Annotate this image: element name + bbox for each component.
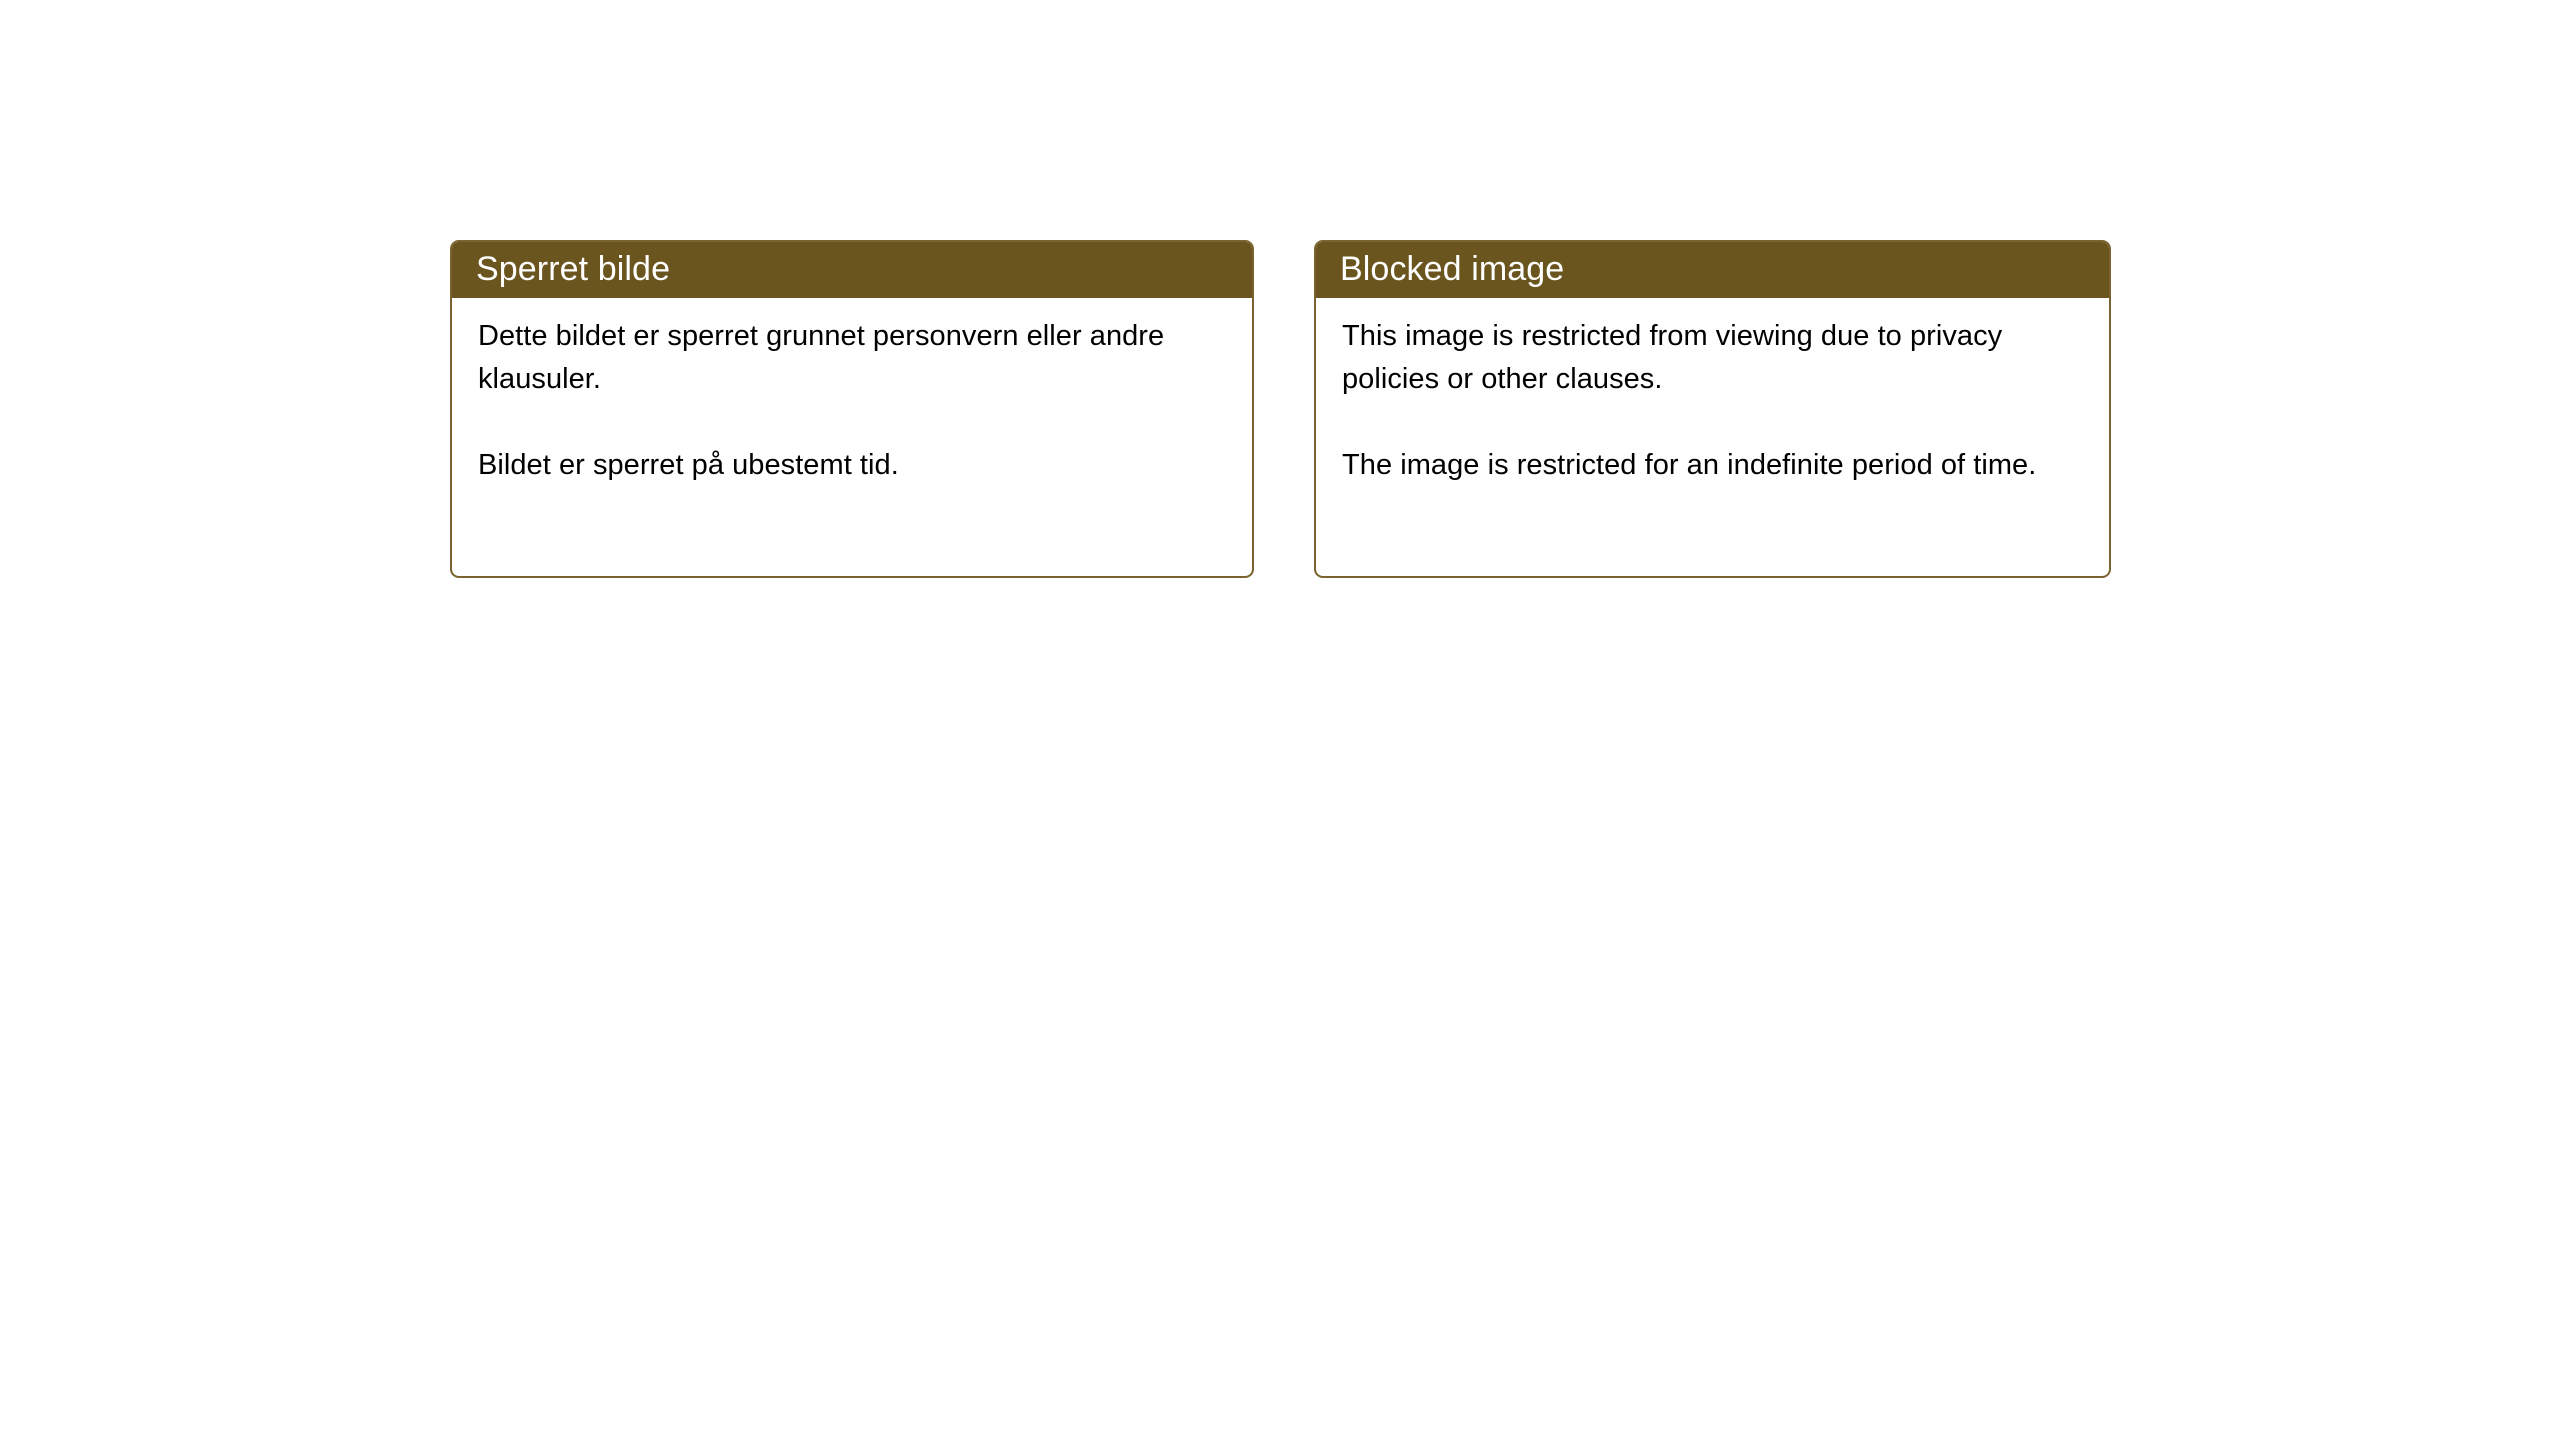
notice-paragraph-reason-en: This image is restricted from viewing du… bbox=[1342, 315, 2085, 401]
notice-header-no: Sperret bilde bbox=[450, 240, 1254, 298]
notice-paragraph-duration-en: The image is restricted for an indefinit… bbox=[1342, 444, 2085, 487]
page-canvas: Sperret bilde Dette bildet er sperret gr… bbox=[0, 0, 2560, 1440]
blocked-image-notice-en: Blocked image This image is restricted f… bbox=[1314, 240, 2111, 578]
blocked-image-notice-no: Sperret bilde Dette bildet er sperret gr… bbox=[450, 240, 1254, 578]
notice-body-en: This image is restricted from viewing du… bbox=[1316, 298, 2109, 487]
notice-paragraph-reason-no: Dette bildet er sperret grunnet personve… bbox=[478, 315, 1228, 401]
notice-title-en: Blocked image bbox=[1340, 250, 1564, 288]
notice-paragraph-duration-no: Bildet er sperret på ubestemt tid. bbox=[478, 444, 1228, 487]
notice-header-en: Blocked image bbox=[1314, 240, 2111, 298]
notice-body-no: Dette bildet er sperret grunnet personve… bbox=[452, 298, 1252, 487]
notice-title-no: Sperret bilde bbox=[476, 250, 670, 288]
